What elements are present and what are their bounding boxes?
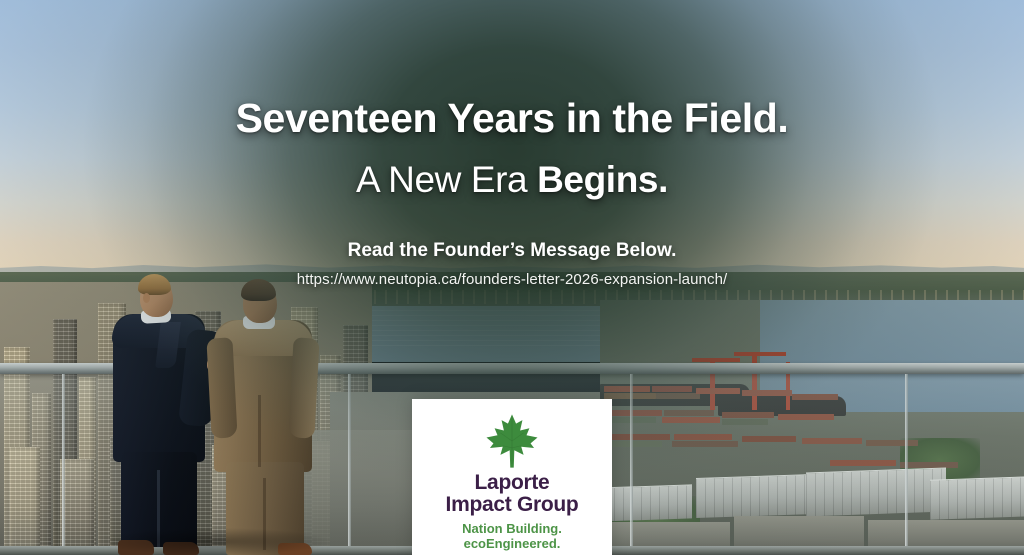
headline-line-2: A New Era Begins. <box>0 139 1024 198</box>
tagline-line-1: Nation Building. <box>462 521 562 536</box>
headline-line-1: Seventeen Years in the Field. <box>0 0 1024 139</box>
brand-wordmark: Laporte Impact Group <box>446 472 579 516</box>
tagline-line-2: ecoEngineered. <box>462 536 562 552</box>
subheadline: Read the Founder’s Message Below. <box>0 240 1024 262</box>
brand-line-1: Laporte <box>475 471 550 494</box>
headline: Seventeen Years in the Field. A New Era … <box>0 0 1024 198</box>
announcement-url[interactable]: https://www.neutopia.ca/founders-letter-… <box>0 271 1024 288</box>
hero-copy: Seventeen Years in the Field. A New Era … <box>0 0 1024 288</box>
hero-banner: Seventeen Years in the Field. A New Era … <box>0 0 1024 555</box>
brand-tagline: Nation Building. ecoEngineered. <box>462 521 562 552</box>
headline-line-2-light: A New Era <box>356 159 537 200</box>
brand-line-2: Impact Group <box>446 494 579 516</box>
headline-line-2-bold: Begins. <box>537 159 668 200</box>
logo-card[interactable]: Laporte Impact Group Nation Building. ec… <box>412 399 612 555</box>
maple-leaf-icon <box>482 412 542 470</box>
